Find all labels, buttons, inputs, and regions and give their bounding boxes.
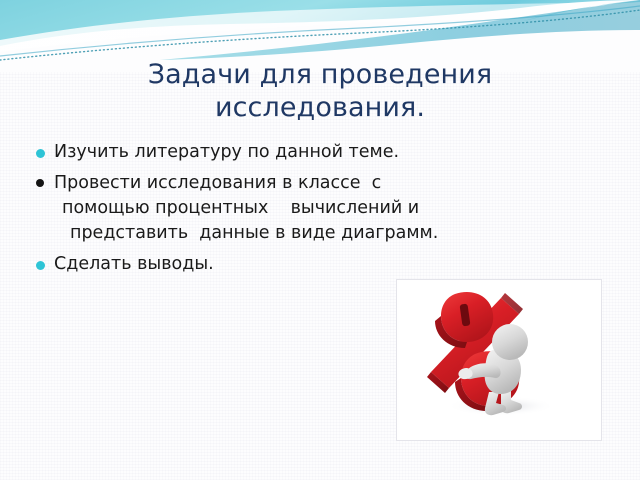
list-item-line: Изучить литературу по данной теме.	[54, 140, 456, 165]
slide-image	[396, 279, 602, 441]
bullet-dot-icon	[36, 261, 45, 270]
bullet-dot-icon	[36, 179, 44, 187]
page-title-line-2: исследования.	[60, 91, 580, 124]
page-title-line-1: Задачи для проведения	[60, 58, 580, 91]
list-item: Сделать выводы.	[36, 252, 456, 277]
bullet-dot-icon	[36, 149, 45, 158]
page-title: Задачи для проведения исследования.	[60, 58, 580, 124]
slide-canvas: Задачи для проведения исследования. Изуч…	[0, 0, 640, 480]
list-item-line: Сделать выводы.	[54, 252, 456, 277]
list-item-text: Сделать выводы.	[54, 252, 456, 277]
bullet-list: Изучить литературу по данной теме. Прове…	[36, 140, 456, 283]
list-item-line: помощью процентных вычислений и	[62, 196, 456, 221]
list-item-text: Провести исследования в классе с помощью…	[54, 171, 456, 246]
list-item-line: Провести исследования в классе с	[54, 171, 456, 196]
figure-head	[492, 324, 528, 360]
list-item: Провести исследования в классе с помощью…	[36, 171, 456, 246]
list-item-text: Изучить литературу по данной теме.	[54, 140, 456, 165]
list-item: Изучить литературу по данной теме.	[36, 140, 456, 165]
percent-sign-illustration	[397, 280, 601, 440]
list-item-line: представить данные в виде диаграмм.	[70, 221, 456, 246]
